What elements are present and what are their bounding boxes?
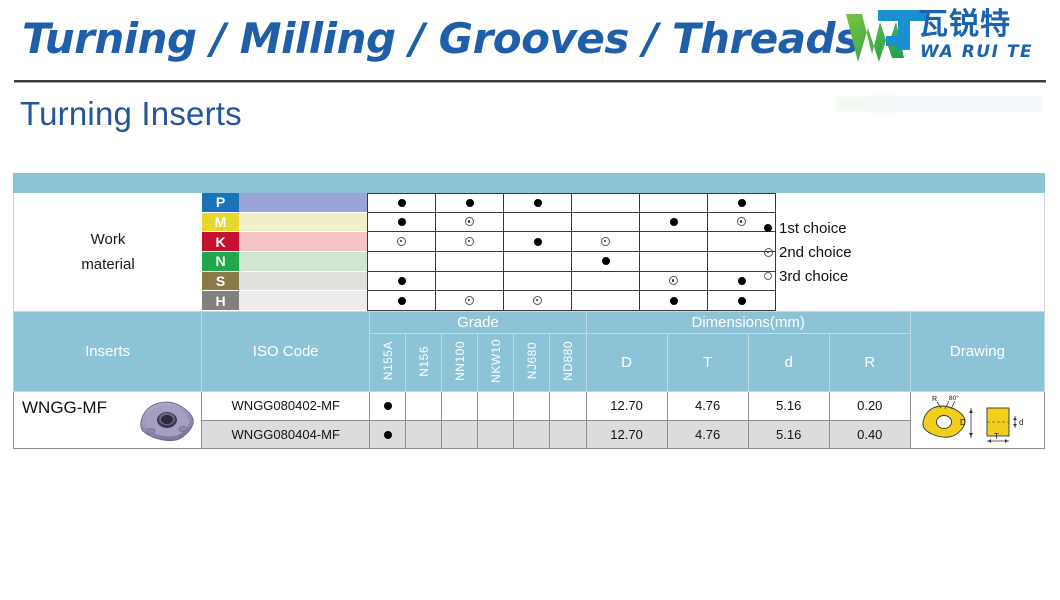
legend-label: 2nd choice bbox=[779, 244, 852, 261]
material-band-h bbox=[239, 291, 367, 311]
choice-cell-p-nj680 bbox=[640, 193, 708, 213]
choice-cell-s-nkw10 bbox=[572, 272, 640, 292]
choice-cell-k-nn100 bbox=[504, 232, 572, 252]
choice-mark-c2 bbox=[465, 237, 474, 246]
choice-mark-c2 bbox=[465, 296, 474, 305]
insert-family-box: WNGG-MF bbox=[14, 392, 201, 448]
choice-cell-p-n156 bbox=[436, 193, 504, 213]
choice-mark-c1 bbox=[466, 199, 474, 207]
dim-cell-d: 5.16 bbox=[748, 392, 829, 421]
masthead-title: Turning / Milling / Grooves / Threads bbox=[22, 14, 860, 63]
insert-family-name: WNGG-MF bbox=[22, 398, 107, 418]
choice-mark-c1 bbox=[398, 277, 406, 285]
insert-table: Inserts ISO Code Grade Dimensions(mm) Dr… bbox=[13, 311, 1045, 449]
legend-item-c2: 2nd choice bbox=[757, 240, 852, 264]
choice-cell-p-nkw10 bbox=[572, 193, 640, 213]
logo-mark-icon bbox=[842, 6, 928, 68]
grade-cell-n156 bbox=[406, 420, 442, 449]
legend-mark-icon bbox=[757, 248, 779, 257]
work-material-label-line2: material bbox=[81, 252, 134, 277]
grade-label: NKW10 bbox=[489, 339, 503, 383]
legend-label: 1st choice bbox=[779, 220, 847, 237]
legend-item-c1: 1st choice bbox=[757, 216, 852, 240]
choice-mark-c1 bbox=[534, 199, 542, 207]
choice-cell-h-nn100 bbox=[504, 291, 572, 311]
material-group-k: K bbox=[202, 232, 239, 252]
choice-cell-n-n155a bbox=[367, 252, 436, 272]
choice-cell-n-nkw10 bbox=[572, 252, 640, 272]
choice-cell-m-nj680 bbox=[640, 213, 708, 233]
grade-cell-nd880 bbox=[550, 392, 586, 421]
work-material-row-k: K bbox=[202, 232, 776, 252]
material-choice-cells bbox=[367, 291, 776, 311]
choice-cell-s-nn100 bbox=[504, 272, 572, 292]
drawing-label-d-major: D bbox=[960, 418, 966, 427]
masthead: Turning / Milling / Grooves / Threads 瓦锐… bbox=[0, 0, 1060, 86]
dim-cell-t: 4.76 bbox=[667, 420, 748, 449]
choice-cell-k-nkw10 bbox=[572, 232, 640, 252]
dim-cell-d: 5.16 bbox=[748, 420, 829, 449]
choice-cell-s-nj680 bbox=[640, 272, 708, 292]
choice-mark-c1 bbox=[670, 297, 678, 305]
material-band-p bbox=[239, 193, 367, 213]
work-material-label-line1: Work bbox=[91, 227, 126, 252]
material-group-s: S bbox=[202, 272, 239, 292]
grade-mark-c1 bbox=[384, 431, 392, 439]
choice-cell-h-nkw10 bbox=[572, 291, 640, 311]
choice-cell-h-n155a bbox=[367, 291, 436, 311]
work-material-row-h: H bbox=[202, 291, 776, 311]
grade-label: N155A bbox=[381, 341, 395, 380]
legend-c3-icon bbox=[764, 272, 772, 280]
grade-label: NJ680 bbox=[525, 342, 539, 379]
catalog-page: Turning / Milling / Grooves / Threads 瓦锐… bbox=[0, 0, 1060, 600]
choice-cell-s-n155a bbox=[367, 272, 436, 292]
choice-cell-k-nj680 bbox=[640, 232, 708, 252]
logo-english-text: WA RUI TE bbox=[920, 42, 1033, 62]
insert-photo-wrap bbox=[136, 400, 198, 447]
iso-code-cell: WNGG080402-MF bbox=[202, 392, 370, 421]
grade-cell-n155a bbox=[370, 420, 406, 449]
choice-cell-k-n155a bbox=[367, 232, 436, 252]
work-material-row-p: P bbox=[202, 193, 776, 213]
material-group-p: P bbox=[202, 193, 239, 213]
header-grade-n155a: N155A bbox=[370, 334, 406, 392]
drawing-label-t: T bbox=[994, 432, 999, 441]
legend-c2-icon bbox=[764, 248, 773, 257]
header-drawing: Drawing bbox=[910, 312, 1044, 392]
choice-cell-h-nd880 bbox=[708, 291, 776, 311]
grade-cell-nkw10 bbox=[478, 392, 514, 421]
work-material-row-m: M bbox=[202, 213, 776, 233]
dim-cell-r: 0.40 bbox=[829, 420, 910, 449]
choice-mark-c1 bbox=[670, 218, 678, 226]
choice-mark-c1 bbox=[602, 257, 610, 265]
dim-cell-d: 12.70 bbox=[586, 392, 667, 421]
work-material-row-n: N bbox=[202, 252, 776, 272]
page-title: Turning Inserts bbox=[20, 95, 242, 133]
choice-cell-s-n156 bbox=[436, 272, 504, 292]
header-dim-t: T bbox=[667, 334, 748, 392]
choice-mark-c2 bbox=[533, 296, 542, 305]
choice-mark-c1 bbox=[398, 199, 406, 207]
material-band-k bbox=[239, 232, 367, 252]
material-choice-cells bbox=[367, 213, 776, 233]
drawing-label-d-minor: d bbox=[1019, 418, 1023, 427]
legend-item-c3: 3rd choice bbox=[757, 264, 852, 288]
choice-mark-c1 bbox=[738, 297, 746, 305]
grade-label: N156 bbox=[417, 346, 431, 377]
header-grade-nd880: ND880 bbox=[550, 334, 586, 392]
choice-cell-n-n156 bbox=[436, 252, 504, 272]
grade-cell-n155a bbox=[370, 392, 406, 421]
choice-cell-n-nn100 bbox=[504, 252, 572, 272]
work-material-label: Work material bbox=[14, 193, 202, 311]
choice-cell-n-nj680 bbox=[640, 252, 708, 272]
choice-mark-c1 bbox=[738, 199, 746, 207]
choice-cell-h-n156 bbox=[436, 291, 504, 311]
header-dim-d: d bbox=[748, 334, 829, 392]
header-grade-nn100: NN100 bbox=[442, 334, 478, 392]
header-inserts: Inserts bbox=[14, 312, 202, 392]
material-band-n bbox=[239, 252, 367, 272]
table-top-band bbox=[13, 173, 1045, 193]
header-grade-nkw10: NKW10 bbox=[478, 334, 514, 392]
grade-label: ND880 bbox=[561, 341, 575, 381]
grade-cell-nkw10 bbox=[478, 420, 514, 449]
grade-cell-nn100 bbox=[442, 420, 478, 449]
grade-mark-c1 bbox=[384, 402, 392, 410]
material-group-h: H bbox=[202, 291, 239, 311]
choice-mark-c2 bbox=[601, 237, 610, 246]
drawing-label-angle: 80° bbox=[949, 394, 959, 402]
material-group-n: N bbox=[202, 252, 239, 272]
choice-cell-k-n156 bbox=[436, 232, 504, 252]
grade-label: NN100 bbox=[453, 341, 467, 381]
grade-cell-nn100 bbox=[442, 392, 478, 421]
choice-cell-p-nd880 bbox=[708, 193, 776, 213]
material-band-m bbox=[239, 213, 367, 233]
legend-mark-icon bbox=[757, 224, 779, 232]
legend-c1-icon bbox=[764, 224, 772, 232]
grade-cell-nj680 bbox=[514, 392, 550, 421]
choice-cell-h-nj680 bbox=[640, 291, 708, 311]
header-dimensions: Dimensions(mm) bbox=[586, 312, 910, 334]
work-material-row-s: S bbox=[202, 272, 776, 292]
material-choice-cells bbox=[367, 252, 776, 272]
header-iso-code: ISO Code bbox=[202, 312, 370, 392]
choice-mark-c2 bbox=[465, 217, 474, 226]
material-group-m: M bbox=[202, 213, 239, 233]
header-divider bbox=[14, 80, 1046, 83]
choice-cell-m-nn100 bbox=[504, 213, 572, 233]
choice-mark-c1 bbox=[534, 238, 542, 246]
legend-mark-icon bbox=[757, 272, 779, 280]
choice-cell-m-nkw10 bbox=[572, 213, 640, 233]
choice-mark-c2 bbox=[737, 217, 746, 226]
choice-cell-m-n155a bbox=[367, 213, 436, 233]
insert-photo bbox=[136, 400, 198, 444]
company-logo: 瓦锐特 WA RUI TE bbox=[842, 6, 1048, 72]
work-material-grid: PMKNSH bbox=[202, 193, 776, 311]
insert-family-cell: WNGG-MF bbox=[14, 392, 202, 449]
table-body: WNGG-MFWNGG080402-MF12.704.765.160.20R80… bbox=[14, 392, 1045, 449]
dim-cell-r: 0.20 bbox=[829, 392, 910, 421]
logo-watermark bbox=[836, 96, 1042, 112]
table-head: Inserts ISO Code Grade Dimensions(mm) Dr… bbox=[14, 312, 1045, 392]
choice-mark-c1 bbox=[398, 297, 406, 305]
insert-technical-drawing: R80°DdT bbox=[911, 392, 1043, 446]
choice-mark-c2 bbox=[669, 276, 678, 285]
header-grade-nj680: NJ680 bbox=[514, 334, 550, 392]
drawing-cell: R80°DdT bbox=[910, 392, 1044, 449]
dim-cell-t: 4.76 bbox=[667, 392, 748, 421]
legend-label: 3rd choice bbox=[779, 268, 848, 285]
choice-legend: 1st choice2nd choice3rd choice bbox=[757, 216, 852, 288]
table-row: WNGG-MFWNGG080402-MF12.704.765.160.20R80… bbox=[14, 392, 1045, 421]
header-grade-n156: N156 bbox=[406, 334, 442, 392]
material-choice-cells bbox=[367, 193, 776, 213]
grade-cell-n156 bbox=[406, 392, 442, 421]
material-choice-cells bbox=[367, 232, 776, 252]
dim-cell-d: 12.70 bbox=[586, 420, 667, 449]
header-dim-d: D bbox=[586, 334, 667, 392]
iso-code-cell: WNGG080404-MF bbox=[202, 420, 370, 449]
choice-cell-p-n155a bbox=[367, 193, 436, 213]
material-choice-cells bbox=[367, 272, 776, 292]
grade-cell-nd880 bbox=[550, 420, 586, 449]
choice-mark-c1 bbox=[738, 277, 746, 285]
material-band-s bbox=[239, 272, 367, 292]
choice-cell-m-n156 bbox=[436, 213, 504, 233]
drawing-box: R80°DdT bbox=[911, 392, 1044, 448]
header-dim-r: R bbox=[829, 334, 910, 392]
grade-cell-nj680 bbox=[514, 420, 550, 449]
choice-mark-c1 bbox=[398, 218, 406, 226]
work-material-section: Work material PMKNSH bbox=[13, 193, 1045, 311]
header-grade: Grade bbox=[370, 312, 586, 334]
drawing-label-r: R bbox=[932, 396, 937, 403]
choice-cell-p-nn100 bbox=[504, 193, 572, 213]
choice-mark-c2 bbox=[397, 237, 406, 246]
logo-chinese-text: 瓦锐特 bbox=[918, 8, 1011, 42]
